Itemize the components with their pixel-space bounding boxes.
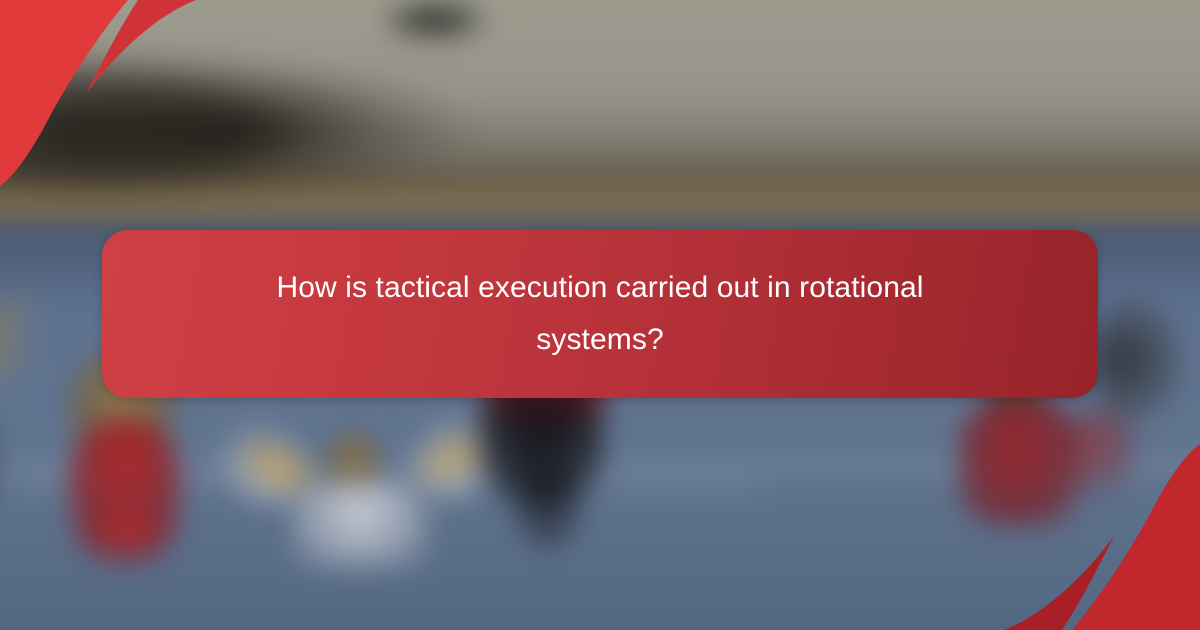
player-left-shorts — [78, 506, 174, 566]
question-text: How is tactical execution carried out in… — [250, 262, 950, 365]
player-far-right-blur — [1090, 300, 1180, 420]
player-center-jersey — [292, 480, 428, 570]
screenshot-canvas: How is tactical execution carried out in… — [0, 0, 1200, 630]
question-badge: How is tactical execution carried out in… — [102, 230, 1098, 398]
player-right-jersey — [960, 398, 1080, 526]
player-jumping-legs — [512, 458, 582, 550]
